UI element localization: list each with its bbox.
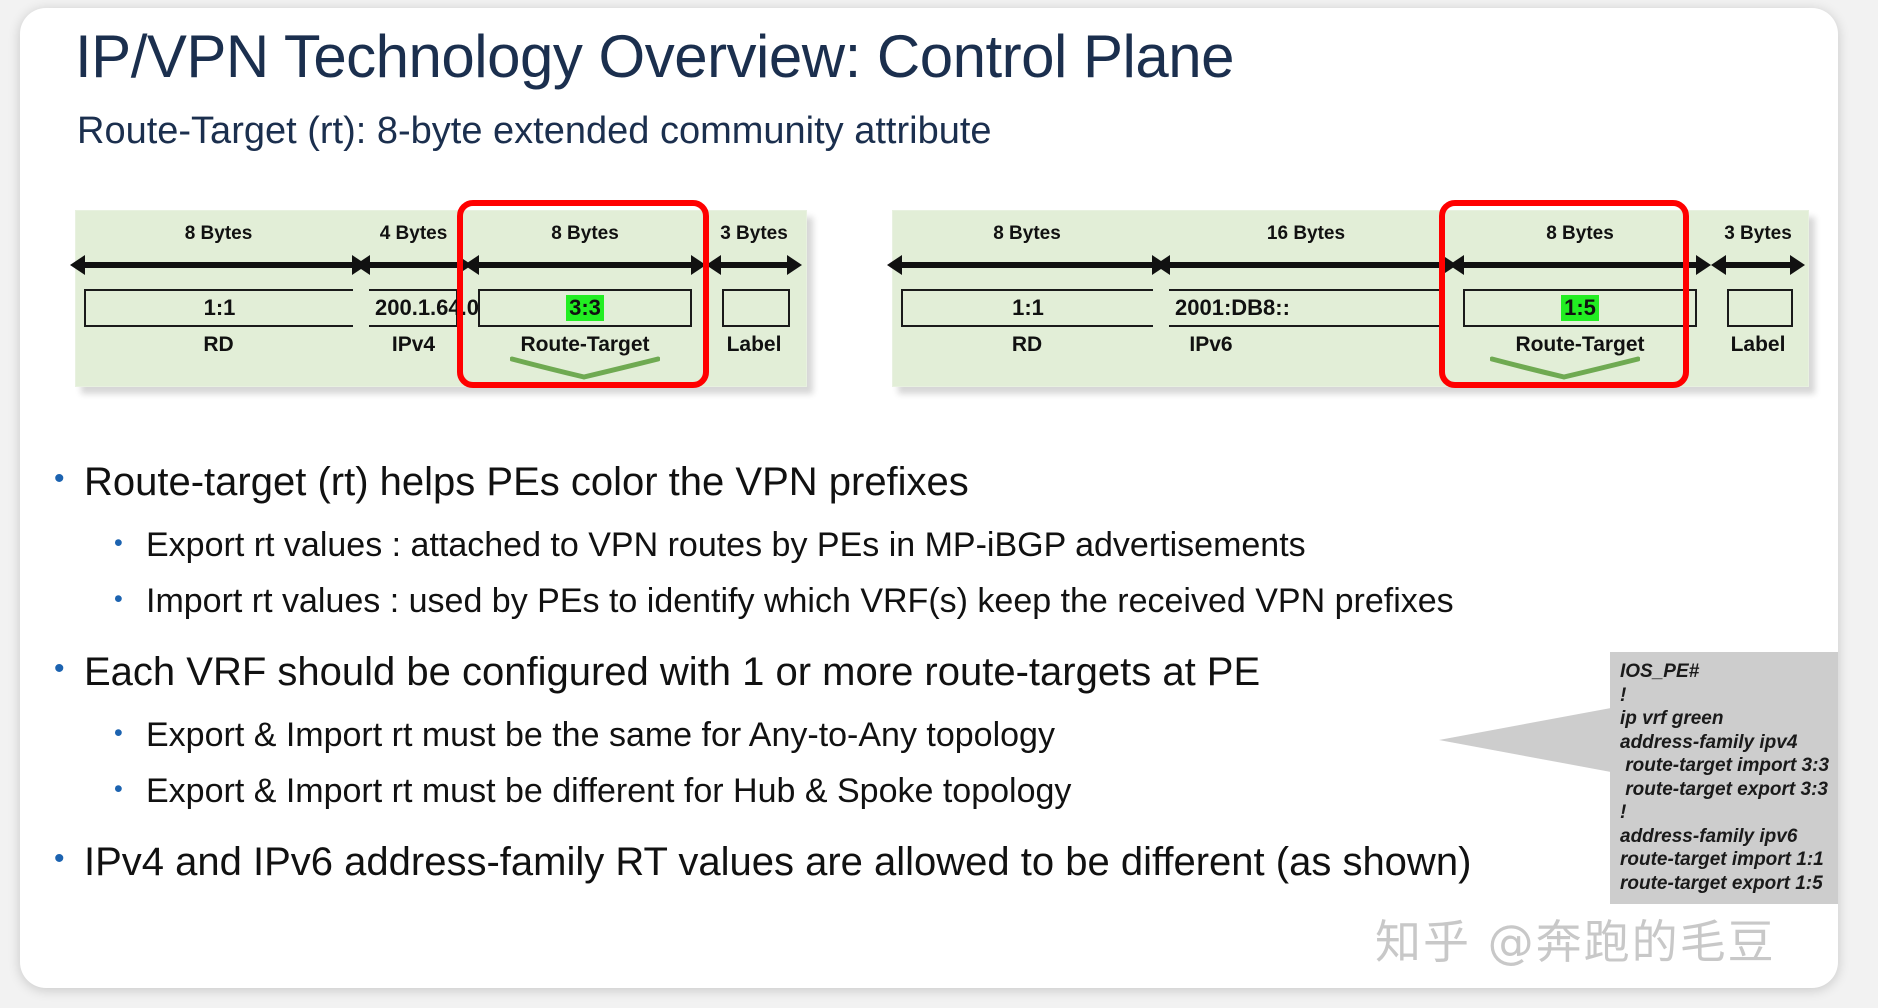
field-label: IPv6 <box>1161 333 1261 357</box>
screenshot-root: IP/VPN Technology Overview: Control Plan… <box>0 0 1878 1008</box>
double-arrow-icon <box>84 262 353 268</box>
field-label: IPv4 <box>361 333 466 357</box>
field-label: Route-Target <box>470 333 700 357</box>
bullet-item: Export & Import rt must be different for… <box>42 770 1602 812</box>
bullet-item: IPv4 and IPv6 address-family RT values a… <box>42 838 1602 886</box>
watermark: 知乎 @奔跑的毛豆 <box>1375 906 1776 972</box>
page-subtitle: Route-Target (rt): 8-byte extended commu… <box>77 108 992 154</box>
segment-size-label: 16 Bytes <box>1161 223 1451 245</box>
callout-pointer-icon <box>1439 708 1611 772</box>
page-title: IP/VPN Technology Overview: Control Plan… <box>75 22 1234 92</box>
cli-line: route-target import 1:1 <box>1620 848 1838 872</box>
field-box: 1:1 <box>84 289 353 327</box>
double-arrow-icon <box>1725 262 1791 268</box>
field-box: 2001:DB8:: <box>1169 289 1443 327</box>
field-value: 1:1 <box>1012 295 1044 321</box>
bullet-item: Route-target (rt) helps PEs color the VP… <box>42 458 1602 506</box>
double-arrow-icon <box>369 262 458 268</box>
segment-size-label: 8 Bytes <box>893 223 1161 245</box>
cli-line: ip vrf green <box>1620 707 1838 731</box>
field-box: 1:1 <box>901 289 1153 327</box>
field-box <box>722 289 790 327</box>
field-value: 2001:DB8:: <box>1175 295 1290 321</box>
segment-rd: 8 Bytes 1:1 RD <box>76 211 361 386</box>
cli-config-callout: IOS_PE# ! ip vrf green address-family ip… <box>1610 652 1838 904</box>
double-arrow-icon <box>901 262 1153 268</box>
double-arrow-icon <box>478 262 692 268</box>
cli-line: ! <box>1620 801 1838 825</box>
field-label: Route-Target <box>1455 333 1705 357</box>
bullet-item: Export rt values : attached to VPN route… <box>42 524 1602 566</box>
cli-line: address-family ipv4 <box>1620 731 1838 755</box>
segment-size-label: 8 Bytes <box>470 223 700 245</box>
segment-size-label: 8 Bytes <box>1455 223 1705 245</box>
bullet-item: Export & Import rt must be the same for … <box>42 714 1602 756</box>
segment-size-label: 4 Bytes <box>361 223 466 245</box>
field-label: RD <box>76 333 361 357</box>
field-value: 1:5 <box>1561 295 1599 321</box>
cli-line: address-family ipv6 <box>1620 825 1838 849</box>
bullet-item: Each VRF should be configured with 1 or … <box>42 648 1602 696</box>
segment-label: 3 Bytes Label <box>1709 211 1807 386</box>
double-arrow-icon <box>1169 262 1443 268</box>
route-target-brace-icon <box>510 355 660 381</box>
ipv6-route-diagram: 8 Bytes 1:1 RD 16 Bytes 2001:DB8:: IPv6 … <box>892 210 1809 387</box>
bullet-item: Import rt values : used by PEs to identi… <box>42 580 1602 622</box>
ipv4-route-diagram: 8 Bytes 1:1 RD 4 Bytes 200.1.64.0 IPv4 8… <box>75 210 807 387</box>
segment-ipv6: 16 Bytes 2001:DB8:: IPv6 <box>1161 211 1451 386</box>
field-label: Label <box>704 333 804 357</box>
segment-ipv4: 4 Bytes 200.1.64.0 IPv4 <box>361 211 466 386</box>
field-value: 3:3 <box>566 295 604 321</box>
slide-card: IP/VPN Technology Overview: Control Plan… <box>20 8 1838 988</box>
segment-size-label: 8 Bytes <box>76 223 361 245</box>
field-label: Label <box>1709 333 1807 357</box>
field-value: 200.1.64.0 <box>375 295 479 321</box>
segment-label: 3 Bytes Label <box>704 211 804 386</box>
segment-size-label: 3 Bytes <box>704 223 804 245</box>
field-value: 1:1 <box>204 295 236 321</box>
field-label: RD <box>893 333 1161 357</box>
field-box: 200.1.64.0 <box>369 289 458 327</box>
cli-line: IOS_PE# <box>1620 660 1838 684</box>
route-target-brace-icon <box>1490 355 1640 381</box>
double-arrow-icon <box>1463 262 1697 268</box>
field-box: 3:3 <box>478 289 692 327</box>
field-box: 1:5 <box>1463 289 1697 327</box>
cli-line: ! <box>1620 684 1838 708</box>
double-arrow-icon <box>720 262 788 268</box>
segment-rd: 8 Bytes 1:1 RD <box>893 211 1161 386</box>
bullet-list: Route-target (rt) helps PEs color the VP… <box>42 458 1602 904</box>
cli-line: route-target import 3:3 <box>1620 754 1838 778</box>
segment-size-label: 3 Bytes <box>1709 223 1807 245</box>
cli-line: route-target export 1:5 <box>1620 872 1838 896</box>
field-box <box>1727 289 1793 327</box>
cli-line: route-target export 3:3 <box>1620 778 1838 802</box>
